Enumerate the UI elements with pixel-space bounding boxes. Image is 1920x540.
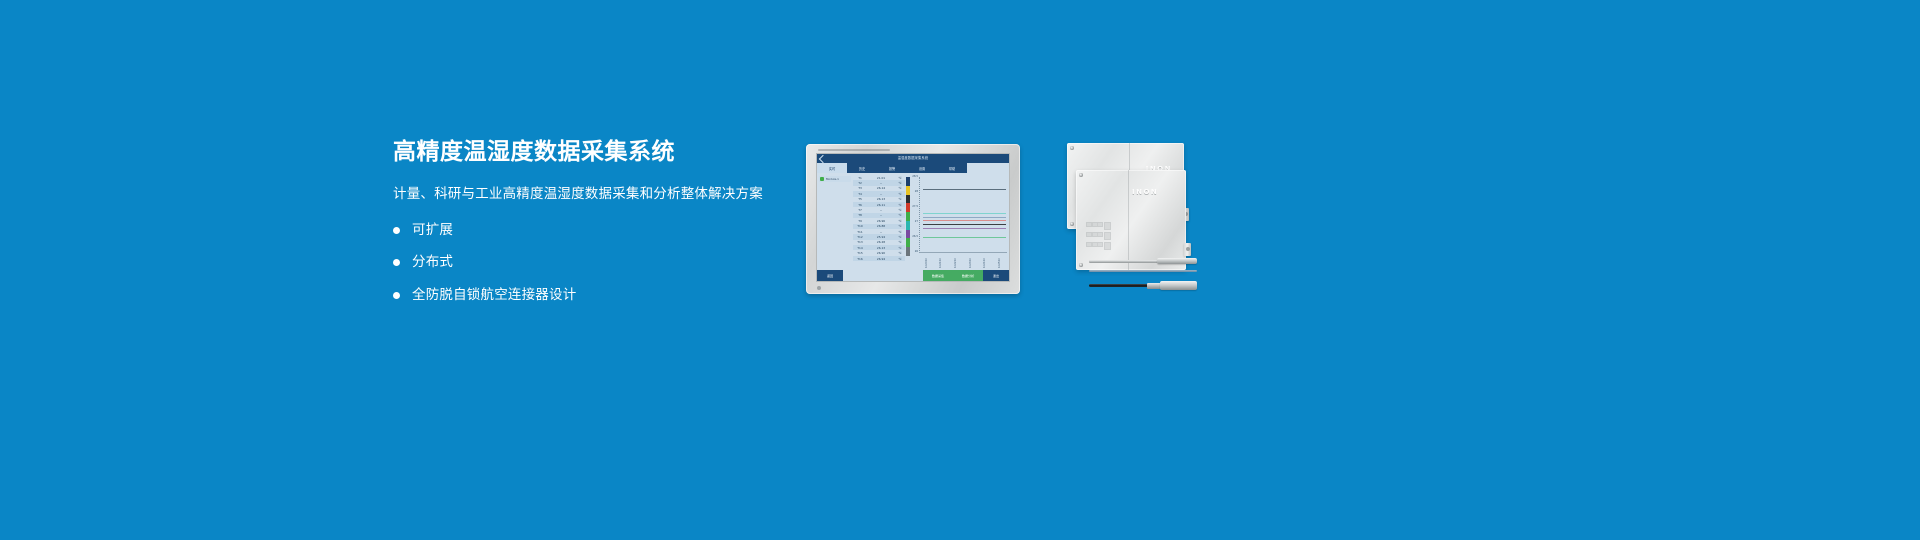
screw-icon	[1070, 222, 1074, 226]
table-cell-ch: T8	[853, 213, 867, 217]
chart-series-line	[923, 228, 1006, 229]
feature-label: 全防脱自锁航空连接器设计	[412, 289, 576, 303]
panel-pc-device: 温湿度数据采集系统 实时 历史 报警 设置 帮助 Module-1 T121.0…	[806, 144, 1020, 294]
table-cell-unit: ℃	[895, 240, 905, 244]
screw-icon	[1070, 146, 1074, 150]
button-bar-filler	[843, 270, 923, 281]
table-row[interactable]: T11--℃	[853, 229, 905, 234]
feature-label: 可扩展	[412, 224, 453, 238]
table-row[interactable]: T1026.88℃	[853, 224, 905, 229]
table-cell-value: 26.90	[867, 251, 895, 255]
table-cell-value: 26.13	[867, 197, 895, 201]
chart-series-line	[923, 220, 1006, 221]
exit-button[interactable]: 退出	[983, 270, 1009, 281]
table-row[interactable]: T1526.90℃	[853, 250, 905, 255]
table-cell-unit: ℃	[895, 181, 905, 185]
table-cell-value: 26.11	[867, 203, 895, 207]
legend-color-swatch	[906, 203, 910, 212]
table-cell-ch: T13	[853, 240, 867, 244]
chart-series-line	[923, 213, 1006, 214]
table-row[interactable]: T8--℃	[853, 213, 905, 218]
screen-sidebar: Module-1	[817, 173, 853, 270]
table-cell-unit: ℃	[895, 230, 905, 234]
table-cell-ch: T16	[853, 257, 867, 261]
table-cell-unit: ℃	[895, 251, 905, 255]
table-cell-value: 26.94	[867, 257, 895, 261]
humidity-probe-wire	[1089, 270, 1197, 273]
back-button[interactable]: 返回	[817, 270, 843, 281]
legend-color-swatch	[906, 238, 910, 247]
table-cell-unit: ℃	[895, 208, 905, 212]
table-row[interactable]: T1426.13℃	[853, 245, 905, 250]
table-cell-ch: T12	[853, 235, 867, 239]
port-grid-icon	[1086, 222, 1101, 250]
chart-plot-area	[919, 177, 1007, 253]
table-cell-unit: ℃	[895, 257, 905, 261]
tab-realtime[interactable]: 实时	[817, 163, 847, 173]
table-cell-unit: ℃	[895, 186, 905, 190]
table-cell-value: 26.13	[867, 246, 895, 250]
x-axis-tick-label: 14:25:10	[998, 254, 1001, 268]
tab-alarm[interactable]: 报警	[877, 163, 907, 173]
feature-list: 可扩展 分布式 全防脱自锁航空连接器设计	[393, 224, 793, 303]
table-cell-unit: ℃	[895, 197, 905, 201]
series-color-legend	[906, 177, 910, 256]
page-subtitle: 计量、科研与工业高精度温湿度数据采集和分析整体解决方案	[393, 188, 793, 202]
module-seam	[1128, 170, 1129, 270]
legend-color-swatch	[906, 212, 910, 221]
table-cell-value: 26.14	[867, 186, 895, 190]
table-cell-ch: T3	[853, 186, 867, 190]
probe-cable	[1089, 284, 1151, 287]
legend-color-swatch	[906, 247, 910, 256]
chart-x-axis: 14:20:1014:21:1014:22:1014:23:1014:24:10…	[919, 254, 1007, 268]
table-row[interactable]: T121.01℃	[853, 175, 905, 180]
tab-bar-filler	[967, 163, 1009, 173]
list-item: 分布式	[393, 256, 793, 270]
table-cell-value: 26.96	[867, 219, 895, 223]
logger-module-front: INON	[1076, 170, 1186, 270]
table-cell-value: 26.88	[867, 224, 895, 228]
table-cell-ch: T2	[853, 181, 867, 185]
y-axis-tick-label: 27.5	[912, 206, 919, 209]
screen-title: 温湿度数据采集系统	[817, 154, 1009, 163]
screen-button-bar: 返回 数据采集 数据分析 退出	[817, 270, 1009, 281]
realtime-chart: 28.52827.52726.526 14:20:1014:21:1014:22…	[911, 173, 1009, 270]
product-banner: 高精度温湿度数据采集系统 计量、科研与工业高精度温湿度数据采集和分析整体解决方案…	[0, 0, 1920, 540]
chart-series-line	[923, 237, 1006, 238]
x-axis-tick-label: 14:21:10	[939, 254, 942, 268]
table-row[interactable]: T1225.94℃	[853, 234, 905, 239]
table-row[interactable]: T326.14℃	[853, 186, 905, 191]
table-cell-ch: T1	[853, 176, 867, 180]
table-row[interactable]: T526.13℃	[853, 197, 905, 202]
table-row[interactable]: T626.11℃	[853, 202, 905, 207]
table-cell-ch: T14	[853, 246, 867, 250]
list-item: 可扩展	[393, 224, 793, 238]
table-cell-unit: ℃	[895, 235, 905, 239]
table-cell-value: --	[867, 230, 895, 234]
legend-color-swatch	[906, 195, 910, 204]
x-axis-tick-label: 14:22:10	[954, 254, 957, 268]
screen-titlebar: 温湿度数据采集系统	[817, 154, 1009, 163]
sidebar-item-label: Module-1	[826, 177, 839, 181]
chart-series-line	[923, 189, 1006, 190]
screen-tab-bar: 实时 历史 报警 设置 帮助	[817, 163, 1009, 173]
bullet-dot-icon	[393, 292, 400, 299]
table-row[interactable]: T926.96℃	[853, 218, 905, 223]
table-cell-unit: ℃	[895, 219, 905, 223]
chart-series-line	[923, 217, 1006, 218]
probe-tip	[1157, 258, 1197, 264]
table-cell-ch: T11	[853, 230, 867, 234]
table-cell-ch: T7	[853, 208, 867, 212]
monitor-indicator-icon	[817, 286, 821, 290]
y-axis-tick-label: 26.5	[912, 236, 919, 239]
list-item: 全防脱自锁航空连接器设计	[393, 289, 793, 303]
table-cell-unit: ℃	[895, 224, 905, 228]
table-cell-ch: T6	[853, 203, 867, 207]
table-cell-value: --	[867, 213, 895, 217]
aviation-connector-icon	[1147, 283, 1161, 289]
table-cell-unit: ℃	[895, 246, 905, 250]
table-cell-unit: ℃	[895, 192, 905, 196]
table-cell-unit: ℃	[895, 176, 905, 180]
table-row[interactable]: T1626.94℃	[853, 256, 905, 261]
screw-icon	[1079, 263, 1083, 267]
table-cell-value: 26.28	[867, 240, 895, 244]
table-row[interactable]: T1326.28℃	[853, 240, 905, 245]
legend-color-swatch	[906, 177, 910, 186]
sidebar-item-module[interactable]: Module-1	[819, 176, 851, 182]
chart-series-line	[923, 224, 1006, 225]
table-cell-value: --	[867, 192, 895, 196]
table-cell-value: --	[867, 208, 895, 212]
probe-with-aviation-connector	[1089, 281, 1197, 290]
table-cell-value: --	[867, 181, 895, 185]
side-connector-icon	[1184, 243, 1191, 256]
table-row[interactable]: T7--℃	[853, 207, 905, 212]
status-led-icon	[820, 177, 824, 181]
legend-color-swatch	[906, 230, 910, 239]
table-cell-unit: ℃	[895, 213, 905, 217]
channel-table: T121.01℃T2--℃T326.14℃T4--℃T526.13℃T626.1…	[853, 173, 905, 270]
legend-color-swatch	[906, 186, 910, 195]
banner-copy: 高精度温湿度数据采集系统 计量、科研与工业高精度温湿度数据采集和分析整体解决方案…	[393, 141, 793, 321]
table-cell-value: 25.94	[867, 235, 895, 239]
x-axis-tick-label: 14:20:10	[925, 254, 928, 268]
table-row[interactable]: T4--℃	[853, 191, 905, 196]
screw-icon	[1079, 173, 1083, 177]
tab-history[interactable]: 历史	[847, 163, 877, 173]
tab-help[interactable]: 帮助	[937, 163, 967, 173]
chart-y-axis: 28.52827.52726.526	[911, 176, 919, 254]
bullet-dot-icon	[393, 227, 400, 234]
y-axis-tick-label: 28.5	[912, 176, 919, 179]
table-cell-ch: T5	[853, 197, 867, 201]
probe-barrel	[1160, 281, 1197, 290]
x-axis-tick-label: 14:24:10	[983, 254, 986, 268]
screen-body: Module-1 T121.01℃T2--℃T326.14℃T4--℃T526.…	[817, 173, 1009, 270]
device-screen: 温湿度数据采集系统 实时 历史 报警 设置 帮助 Module-1 T121.0…	[816, 153, 1010, 282]
module-port-markings	[1086, 222, 1111, 250]
table-cell-ch: T10	[853, 224, 867, 228]
table-cell-unit: ℃	[895, 203, 905, 207]
probe-wire	[1089, 270, 1197, 272]
probe-stem	[1089, 260, 1163, 263]
table-cell-ch: T15	[853, 251, 867, 255]
page-title: 高精度温湿度数据采集系统	[393, 141, 793, 164]
temperature-probe-stainless	[1089, 258, 1197, 264]
brand-logo: INON	[1132, 188, 1158, 196]
table-row[interactable]: T2--℃	[853, 180, 905, 185]
port-column-icon	[1104, 222, 1111, 250]
table-cell-ch: T9	[853, 219, 867, 223]
tab-settings[interactable]: 设置	[907, 163, 937, 173]
table-cell-value: 21.01	[867, 176, 895, 180]
monitor-vent-line	[818, 149, 890, 151]
table-cell-ch: T4	[853, 192, 867, 196]
feature-label: 分布式	[412, 256, 453, 270]
x-axis-tick-label: 14:23:10	[969, 254, 972, 268]
legend-color-swatch	[906, 221, 910, 230]
analyze-data-button[interactable]: 数据分析	[953, 270, 983, 281]
bullet-dot-icon	[393, 259, 400, 266]
acquire-data-button[interactable]: 数据采集	[923, 270, 953, 281]
